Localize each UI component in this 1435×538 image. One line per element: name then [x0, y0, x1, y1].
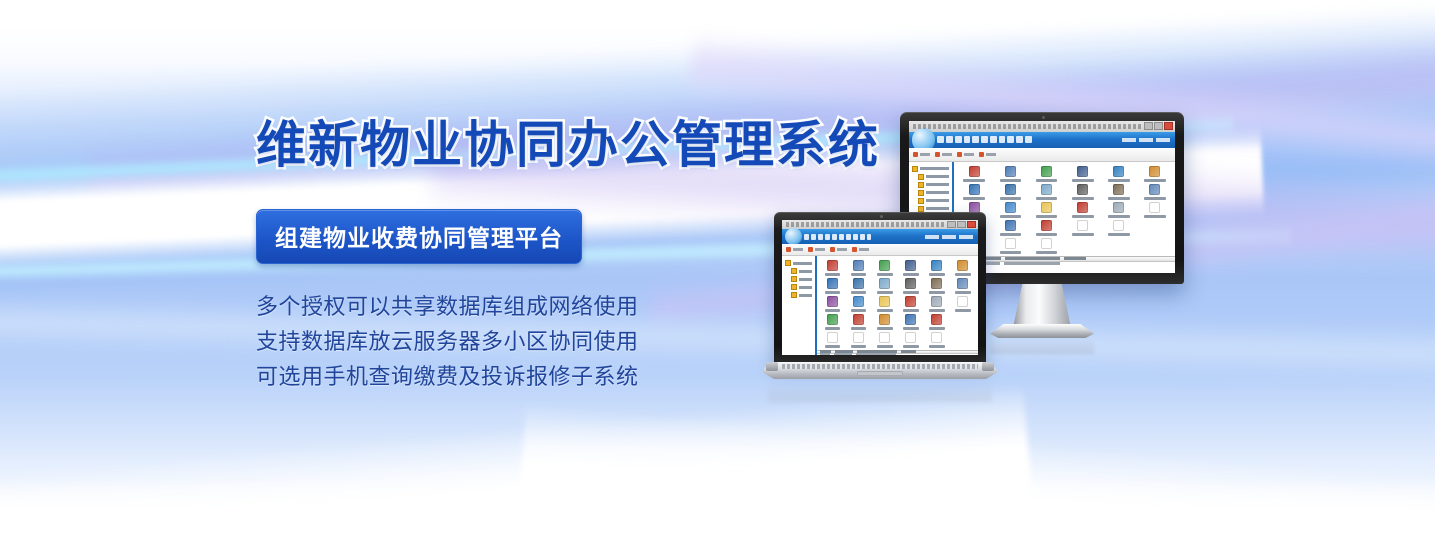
module-icon — [1077, 184, 1088, 195]
toolbar-button[interactable] — [913, 152, 930, 157]
module-icon-label — [1144, 197, 1166, 200]
module-icon-label — [903, 273, 919, 276]
toolbar-icon — [786, 247, 791, 252]
list-cell — [856, 353, 896, 355]
menu-item[interactable] — [832, 234, 837, 240]
tree-node-label — [799, 286, 812, 289]
module-icon-cell[interactable] — [1101, 184, 1137, 200]
module-icon — [1005, 184, 1016, 195]
module-icon — [969, 184, 980, 195]
module-icon — [931, 278, 942, 289]
menu-item[interactable] — [804, 234, 809, 240]
folder-icon — [912, 166, 918, 172]
monitor-stand-neck — [1013, 284, 1071, 328]
tree-node[interactable] — [912, 206, 949, 212]
module-icon-cell[interactable] — [819, 260, 845, 276]
menubar-link[interactable] — [925, 235, 939, 239]
module-icon — [879, 260, 890, 271]
module-icon-cell[interactable] — [1065, 166, 1101, 182]
module-icon-cell[interactable] — [872, 278, 898, 294]
module-icon-cell-empty — [1065, 238, 1101, 254]
module-icon-label — [929, 291, 945, 294]
toolbar-label — [859, 248, 869, 251]
module-icon-label — [903, 309, 919, 312]
menubar-right-links — [1122, 138, 1172, 142]
module-icon-label — [1108, 197, 1130, 200]
module-icon-cell[interactable] — [1028, 220, 1064, 236]
module-icon-cell[interactable] — [924, 296, 950, 312]
module-icon — [827, 314, 838, 325]
module-icon — [1005, 220, 1016, 231]
tree-node[interactable] — [785, 268, 812, 274]
module-icon-cell[interactable] — [846, 296, 872, 312]
tagline-badge: 组建物业收费协同管理平台 — [256, 209, 582, 264]
menu-item[interactable] — [990, 136, 997, 143]
module-icon — [905, 332, 916, 343]
module-icon-cell[interactable] — [1028, 184, 1064, 200]
module-icon-cell-empty — [950, 332, 976, 348]
module-icon-label — [929, 327, 945, 330]
module-icon-cell[interactable] — [872, 296, 898, 312]
module-icon-label — [955, 309, 971, 312]
module-icon — [957, 278, 968, 289]
module-icon-label — [851, 273, 867, 276]
module-icon — [931, 260, 942, 271]
module-icon-cell[interactable] — [992, 184, 1028, 200]
module-icon-label — [1000, 233, 1022, 236]
module-icon-label — [1036, 179, 1058, 182]
module-icon-cell[interactable] — [1028, 166, 1064, 182]
module-icon — [905, 278, 916, 289]
app-menubar — [909, 132, 1175, 149]
navigation-tree[interactable] — [782, 256, 817, 355]
menu-item[interactable] — [811, 234, 816, 240]
monitor-stand-base — [990, 324, 1094, 338]
laptop-screen — [782, 220, 978, 355]
menu-item[interactable] — [839, 234, 844, 240]
module-icon — [1077, 220, 1088, 231]
module-icon — [1113, 184, 1124, 195]
module-icon — [1113, 202, 1124, 213]
menubar-right-links — [925, 235, 975, 239]
module-icon — [931, 332, 942, 343]
module-icon — [827, 260, 838, 271]
module-icon-label — [877, 345, 893, 348]
module-icon-label — [1072, 215, 1094, 218]
tree-node[interactable] — [785, 284, 812, 290]
module-icon-cell[interactable] — [950, 278, 976, 294]
module-icon — [905, 314, 916, 325]
app-titlebar — [909, 121, 1175, 132]
module-icon-label — [851, 345, 867, 348]
module-icon-cell[interactable] — [1137, 166, 1173, 182]
page-title: 维新物业协同办公管理系统 — [256, 118, 896, 173]
module-icon-cell[interactable] — [1137, 184, 1173, 200]
folder-icon — [785, 260, 791, 266]
tree-node-root[interactable] — [785, 260, 812, 266]
folder-icon — [918, 174, 924, 180]
menu-item[interactable] — [999, 136, 1006, 143]
module-icon — [1041, 238, 1052, 249]
app-list-panel — [817, 350, 978, 355]
module-icon — [853, 260, 864, 271]
module-icon-cell[interactable] — [872, 260, 898, 276]
toolbar-icon — [957, 152, 962, 157]
menu-item[interactable] — [972, 136, 979, 143]
module-icon-label — [963, 179, 985, 182]
promo-banner: 维新物业协同办公管理系统 组建物业收费协同管理平台 多个授权可以共享数据库组成网… — [0, 0, 1435, 538]
toolbar-button[interactable] — [786, 247, 803, 252]
app-titlebar-text — [913, 124, 1143, 129]
module-icon-label — [1000, 179, 1022, 182]
toolbar-icon — [830, 247, 835, 252]
module-icon-label — [877, 273, 893, 276]
module-icon-cell[interactable] — [924, 332, 950, 348]
tree-node-label — [799, 270, 812, 273]
module-icon-cell[interactable] — [1028, 202, 1064, 218]
module-icon-label — [877, 309, 893, 312]
tree-node[interactable] — [785, 292, 812, 298]
module-icon — [1077, 166, 1088, 177]
folder-icon — [791, 268, 797, 274]
module-icon-label — [825, 309, 841, 312]
module-icon — [827, 278, 838, 289]
module-icon-cell[interactable] — [872, 332, 898, 348]
menubar-link[interactable] — [1139, 138, 1153, 142]
toolbar-icon — [913, 152, 918, 157]
module-icon-label — [1036, 251, 1058, 254]
module-icon-cell[interactable] — [1101, 202, 1137, 218]
module-icon-label — [1108, 233, 1130, 236]
module-icon — [957, 260, 968, 271]
toolbar-label — [986, 153, 996, 156]
folder-icon — [918, 190, 924, 196]
webcam-icon — [1042, 116, 1045, 119]
module-icon-cell[interactable] — [1101, 166, 1137, 182]
folder-icon — [918, 182, 924, 188]
module-icon-label — [1000, 251, 1022, 254]
app-main-panel — [817, 256, 978, 355]
module-icon-label — [825, 327, 841, 330]
module-icon-cell[interactable] — [924, 260, 950, 276]
background-bottom-swoosh-right — [511, 403, 1435, 538]
module-icon — [1149, 202, 1160, 213]
module-icon-label — [1000, 197, 1022, 200]
app-logo-icon — [785, 228, 802, 245]
module-icon-label — [1000, 215, 1022, 218]
menu-item[interactable] — [825, 234, 830, 240]
menu-item[interactable] — [853, 234, 858, 240]
module-icon-cell-empty — [1101, 238, 1137, 254]
laptop-reflection — [768, 382, 992, 402]
module-icon — [1149, 166, 1160, 177]
background-top-fade — [0, 0, 1435, 75]
module-icon-cell[interactable] — [924, 314, 950, 330]
module-icon-cell[interactable] — [898, 314, 924, 330]
list-cell — [834, 353, 853, 355]
module-icon — [853, 296, 864, 307]
menu-item[interactable] — [1007, 136, 1014, 143]
module-icon-label — [1072, 179, 1094, 182]
module-icon — [1113, 220, 1124, 231]
module-icon-label — [903, 291, 919, 294]
module-icon-cell[interactable] — [898, 260, 924, 276]
module-icon-label — [929, 345, 945, 348]
module-icon — [1005, 238, 1016, 249]
module-icon — [879, 314, 890, 325]
module-icon-label — [851, 327, 867, 330]
module-icon — [853, 332, 864, 343]
module-icon-cell[interactable] — [898, 332, 924, 348]
module-icon — [969, 202, 980, 213]
menu-item[interactable] — [1025, 136, 1032, 143]
toolbar-button[interactable] — [852, 247, 869, 252]
module-icon-label — [877, 291, 893, 294]
menu-item[interactable] — [981, 136, 988, 143]
module-icon — [931, 314, 942, 325]
module-icon-cell[interactable] — [898, 278, 924, 294]
module-icon-label — [1036, 215, 1058, 218]
toolbar-button[interactable] — [935, 152, 952, 157]
menu-item[interactable] — [1016, 136, 1023, 143]
module-icon — [1005, 202, 1016, 213]
toolbar-label — [793, 248, 803, 251]
module-icon-cell[interactable] — [924, 278, 950, 294]
toolbar-button[interactable] — [979, 152, 996, 157]
laptop-lid — [774, 212, 986, 364]
toolbar-icon — [979, 152, 984, 157]
module-icon-label — [1072, 197, 1094, 200]
module-icon — [1149, 184, 1160, 195]
module-icon-label — [903, 345, 919, 348]
module-icon-cell[interactable] — [1137, 202, 1173, 218]
menu-item[interactable] — [867, 234, 872, 240]
menu-item[interactable] — [946, 136, 953, 143]
module-icon — [1005, 166, 1016, 177]
tree-node[interactable] — [912, 174, 949, 180]
module-icon-grid — [817, 256, 978, 350]
list-row[interactable] — [817, 354, 978, 355]
menubar-link[interactable] — [1122, 138, 1136, 142]
webcam-icon — [880, 215, 883, 218]
module-icon-label — [955, 273, 971, 276]
module-icon-label — [963, 197, 985, 200]
app-menubar — [782, 229, 978, 244]
module-icon-label — [1144, 179, 1166, 182]
module-icon — [931, 296, 942, 307]
folder-icon — [918, 198, 924, 204]
toolbar-label — [837, 248, 847, 251]
module-icon-cell[interactable] — [950, 296, 976, 312]
tree-node-label — [926, 199, 949, 202]
module-icon — [827, 296, 838, 307]
maximize-button[interactable] — [957, 221, 966, 228]
module-icon-cell-empty — [1137, 220, 1173, 236]
module-icon — [1077, 202, 1088, 213]
module-icon-label — [1108, 179, 1130, 182]
module-icon-cell[interactable] — [819, 314, 845, 330]
module-icon-cell[interactable] — [819, 332, 845, 348]
minimize-button[interactable] — [947, 221, 956, 228]
list-cell — [820, 353, 829, 355]
menu-item[interactable] — [955, 136, 962, 143]
toolbar-label — [964, 153, 974, 156]
toolbar-label — [942, 153, 952, 156]
menu-item[interactable] — [860, 234, 865, 240]
folder-icon — [791, 284, 797, 290]
tree-node-label — [793, 262, 812, 265]
folder-icon — [918, 206, 924, 212]
background-bottom-swoosh-left — [0, 384, 1039, 538]
monitor-reflection — [990, 338, 1094, 354]
close-button[interactable] — [967, 221, 976, 228]
module-icon — [879, 332, 890, 343]
module-icon-cell[interactable] — [846, 278, 872, 294]
module-icon-label — [851, 309, 867, 312]
module-icon — [879, 296, 890, 307]
toolbar-button[interactable] — [957, 152, 974, 157]
module-icon-label — [1036, 233, 1058, 236]
maximize-button[interactable] — [1154, 122, 1163, 130]
tree-node-root[interactable] — [912, 166, 949, 172]
module-icon — [853, 278, 864, 289]
tree-node-label — [799, 294, 812, 297]
close-button[interactable] — [1164, 122, 1173, 130]
toolbar-icon — [808, 247, 813, 252]
tree-node-label — [926, 175, 949, 178]
toolbar-icon — [852, 247, 857, 252]
module-icon-label — [825, 273, 841, 276]
module-icon — [905, 296, 916, 307]
menubar-link[interactable] — [1156, 138, 1170, 142]
module-icon-label — [903, 327, 919, 330]
laptop-hinge-right — [982, 362, 994, 371]
module-icon — [1041, 166, 1052, 177]
module-icon-label — [851, 291, 867, 294]
module-icon-label — [825, 345, 841, 348]
background-bottom-fade — [0, 479, 1435, 538]
module-icon-cell[interactable] — [992, 166, 1028, 182]
module-icon-cell[interactable] — [898, 296, 924, 312]
module-icon-label — [825, 291, 841, 294]
menu-item[interactable] — [818, 234, 823, 240]
module-icon — [1041, 202, 1052, 213]
toolbar-label — [815, 248, 825, 251]
module-icon-label — [929, 309, 945, 312]
app-toolbar — [782, 244, 978, 256]
module-icon-cell[interactable] — [1065, 184, 1101, 200]
module-icon — [957, 296, 968, 307]
menu-item[interactable] — [937, 136, 944, 143]
tree-node-label — [926, 191, 949, 194]
minimize-button[interactable] — [1144, 122, 1153, 130]
tree-node[interactable] — [912, 190, 949, 196]
module-icon-cell[interactable] — [1065, 220, 1101, 236]
module-icon-label — [1036, 197, 1058, 200]
menu-item[interactable] — [846, 234, 851, 240]
tree-node[interactable] — [785, 276, 812, 282]
list-cell — [1004, 262, 1060, 265]
module-icon — [879, 278, 890, 289]
module-icon-cell-empty — [1137, 238, 1173, 254]
toolbar-button[interactable] — [808, 247, 825, 252]
module-icon — [1041, 184, 1052, 195]
module-icon-label — [929, 273, 945, 276]
module-icon-label — [1072, 233, 1094, 236]
tree-node-label — [920, 167, 949, 170]
menubar-link[interactable] — [942, 235, 956, 239]
module-icon-label — [1144, 215, 1166, 218]
module-icon-cell[interactable] — [956, 166, 992, 182]
list-column-header — [1005, 257, 1060, 260]
module-icon — [905, 260, 916, 271]
tree-node[interactable] — [912, 182, 949, 188]
module-icon-cell[interactable] — [846, 260, 872, 276]
module-icon — [969, 166, 980, 177]
toolbar-label — [920, 153, 930, 156]
toolbar-button[interactable] — [830, 247, 847, 252]
module-icon — [1113, 166, 1124, 177]
module-icon — [853, 314, 864, 325]
module-icon-cell[interactable] — [819, 296, 845, 312]
tree-node-label — [926, 207, 949, 210]
module-icon-label — [877, 327, 893, 330]
module-icon-cell[interactable] — [846, 314, 872, 330]
tree-node[interactable] — [912, 198, 949, 204]
menubar-link[interactable] — [959, 235, 973, 239]
tree-node-label — [799, 278, 812, 281]
module-icon — [1041, 220, 1052, 231]
module-icon-cell[interactable] — [956, 184, 992, 200]
menu-item[interactable] — [964, 136, 971, 143]
laptop-trackpad[interactable] — [857, 371, 903, 376]
module-icon-cell[interactable] — [950, 260, 976, 276]
module-icon-cell[interactable] — [819, 278, 845, 294]
module-icon-label — [1108, 215, 1130, 218]
tree-node-label — [926, 183, 949, 186]
module-icon-cell[interactable] — [1028, 238, 1064, 254]
module-icon-cell[interactable] — [1065, 202, 1101, 218]
module-icon-cell[interactable] — [1101, 220, 1137, 236]
app-titlebar — [782, 220, 978, 229]
module-icon — [827, 332, 838, 343]
app-titlebar-text — [786, 222, 946, 227]
module-icon-cell[interactable] — [846, 332, 872, 348]
laptop-hinge-left — [766, 362, 778, 371]
app-body — [782, 256, 978, 355]
module-icon-label — [955, 291, 971, 294]
module-icon-cell-empty — [950, 314, 976, 330]
app-window-laptop — [782, 220, 978, 355]
laptop-computer — [762, 212, 998, 400]
module-icon-cell[interactable] — [872, 314, 898, 330]
app-toolbar — [909, 148, 1175, 161]
toolbar-icon — [935, 152, 940, 157]
list-column-header — [1064, 257, 1086, 260]
folder-icon — [791, 292, 797, 298]
laptop-keyboard[interactable] — [782, 364, 978, 369]
folder-icon — [791, 276, 797, 282]
